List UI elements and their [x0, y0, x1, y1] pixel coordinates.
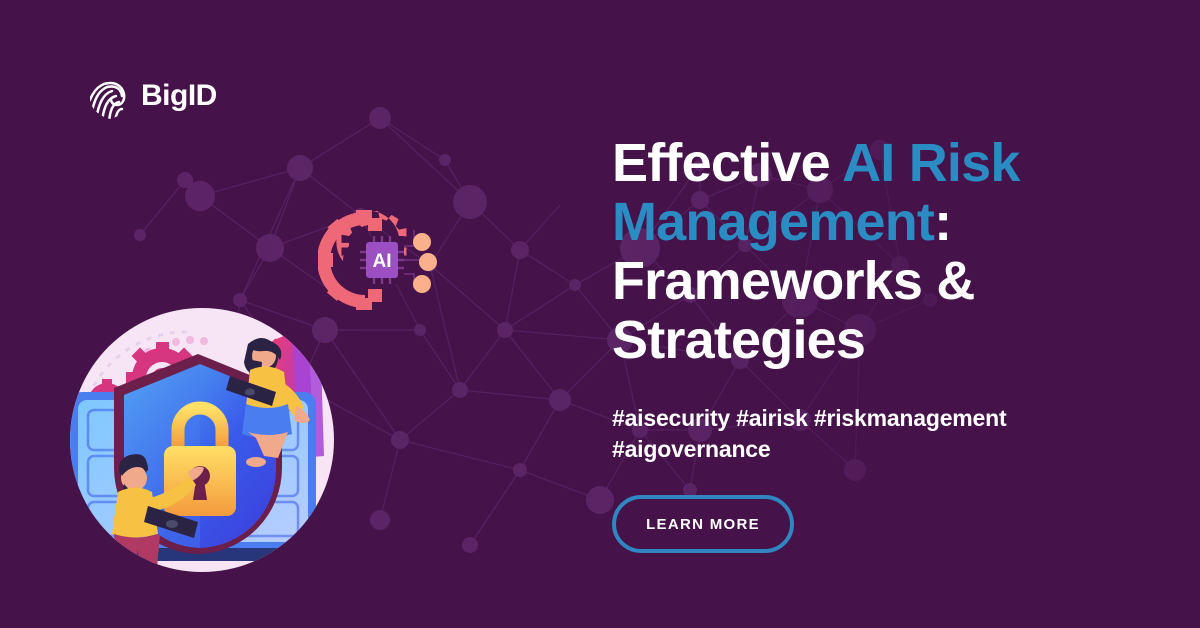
learn-more-button[interactable]: LEARN MORE — [612, 495, 794, 553]
hashtag-line-1: #aisecurity #airisk #riskmanagement — [612, 405, 1006, 431]
ai-chip-label: AI — [373, 251, 392, 272]
headline-part-ai-risk: AI Risk — [842, 133, 1019, 193]
marketing-banner: AI — [0, 0, 1200, 628]
content-column: Effective AI Risk Management: Frameworks… — [612, 134, 1132, 553]
bigid-logo[interactable]: BigID — [88, 72, 217, 120]
hashtag-line-2: #aigovernance — [612, 436, 770, 462]
ai-chip-icon: AI — [360, 236, 404, 284]
headline-part-management: Management — [612, 192, 934, 252]
headline-part-strategies: Strategies — [612, 310, 865, 370]
fingerprint-shield-icon — [88, 72, 132, 120]
hashtag-list: #aisecurity #airisk #riskmanagement #aig… — [612, 403, 1132, 465]
node-dots — [413, 233, 437, 293]
headline-part-colon: : — [934, 192, 951, 252]
security-illustration — [52, 300, 352, 590]
bigid-logo-text: BigID — [141, 81, 217, 111]
headline-part-effective: Effective — [612, 133, 842, 193]
headline-part-frameworks: Frameworks & — [612, 251, 975, 311]
page-title: Effective AI Risk Management: Frameworks… — [612, 134, 1132, 369]
learn-more-label: LEARN MORE — [646, 516, 760, 533]
